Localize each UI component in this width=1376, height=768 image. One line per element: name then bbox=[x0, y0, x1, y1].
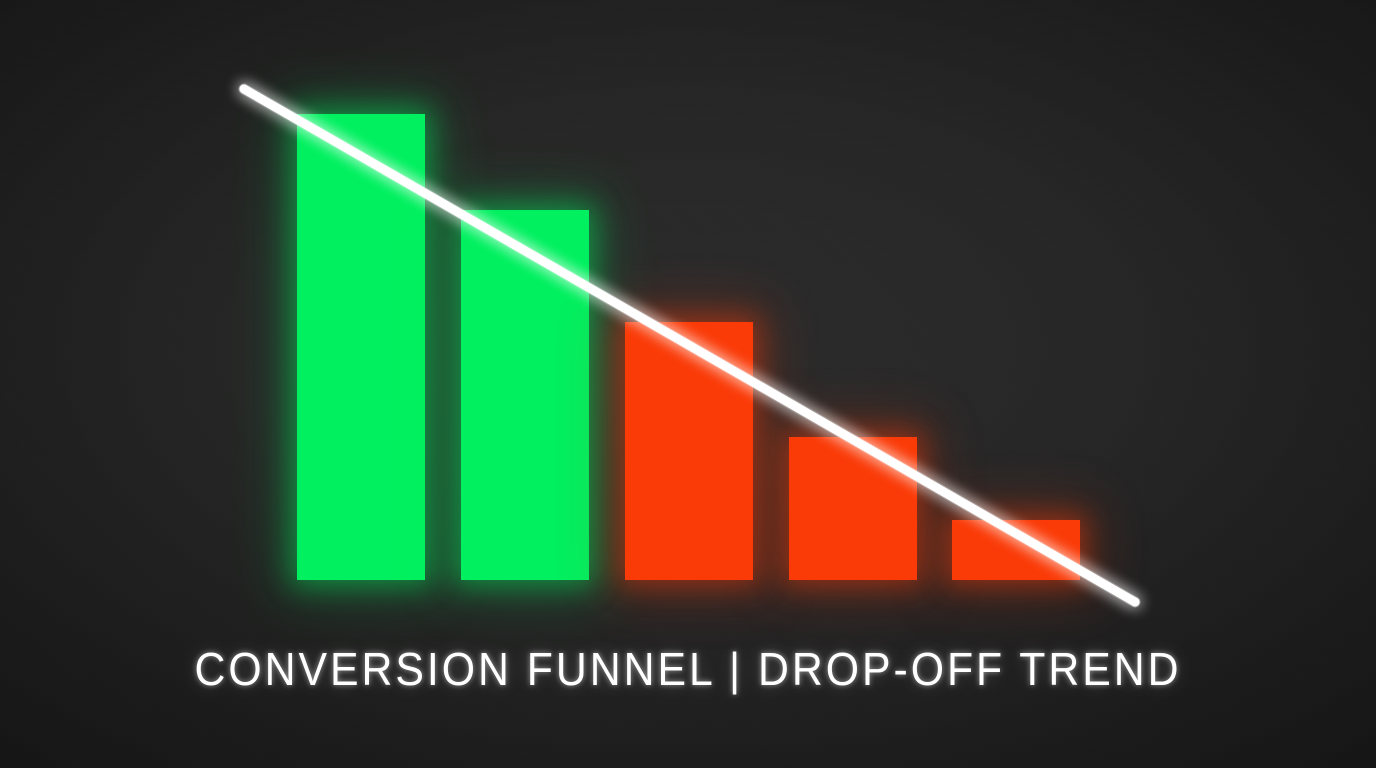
bar-3 bbox=[625, 322, 753, 580]
bar-1 bbox=[297, 114, 425, 580]
chart-canvas: CONVERSION FUNNEL | DROP-OFF TREND bbox=[0, 0, 1376, 768]
bar-5 bbox=[952, 520, 1080, 580]
chart-title: CONVERSION FUNNEL | DROP-OFF TREND bbox=[48, 642, 1328, 696]
bar-2 bbox=[461, 210, 589, 580]
bar-4 bbox=[789, 437, 917, 580]
